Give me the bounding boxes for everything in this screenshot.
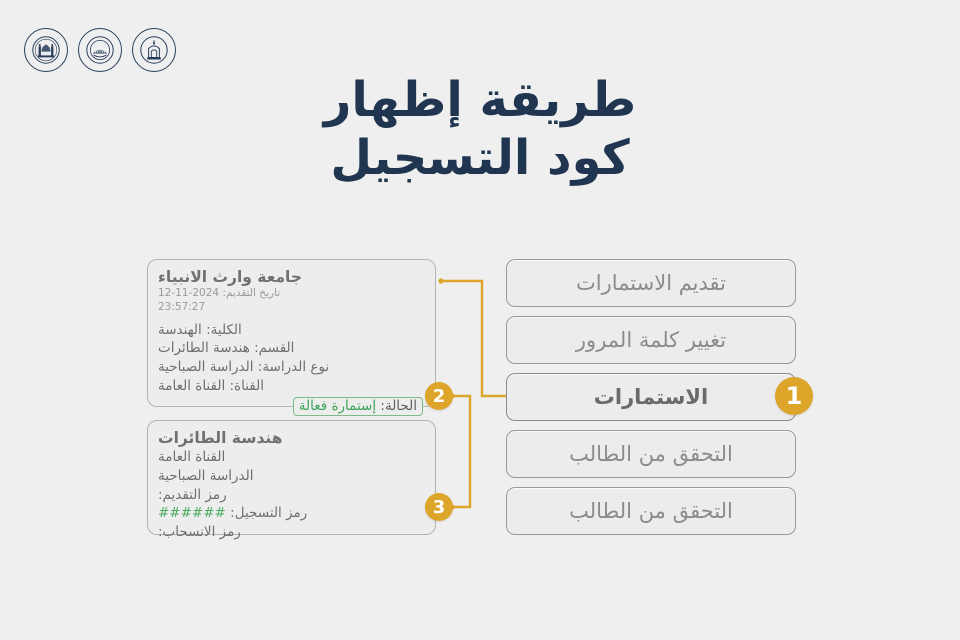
step-badge-1: 1 (775, 377, 813, 415)
registration-code-value: ###### (158, 505, 226, 521)
menu-item-label: تغيير كلمة المرور (576, 328, 726, 352)
menu-item-label: التحقق من الطالب (569, 499, 733, 523)
step-badge-3: 3 (425, 493, 453, 521)
ministry-seal-center-icon (78, 28, 122, 72)
menu-item-label: التحقق من الطالب (569, 442, 733, 466)
status-value: إستمارة فعالة (299, 398, 376, 414)
codes-channel: القناة العامة (158, 448, 423, 467)
page-title: طريقة إظهار كود التسجيل (0, 72, 960, 187)
menu-item-verify-student-2[interactable]: التحقق من الطالب (506, 487, 796, 535)
menu-item-forms[interactable]: الاستمارات (506, 373, 796, 421)
codes-study-type: الدراسة الصباحية (158, 467, 423, 486)
menu-item-label: الاستمارات (594, 385, 708, 409)
submission-details-card: جامعة وارث الانبياء تاريخ التقديم: 2024-… (147, 259, 436, 407)
logo-strip (24, 28, 176, 72)
submission-time: 23:57:27 (158, 301, 423, 314)
slide-canvas: طريقة إظهار كود التسجيل تقديم الاستمارات… (0, 0, 960, 640)
menu-item-change-password[interactable]: تغيير كلمة المرور (506, 316, 796, 364)
menu-item-submit-forms[interactable]: تقديم الاستمارات (506, 259, 796, 307)
withdrawal-code-row: رمز الانسحاب: (158, 523, 423, 542)
department-row: القسم: هندسة الطائرات (158, 339, 423, 358)
codes-card: هندسة الطائرات القناة العامة الدراسة الص… (147, 420, 436, 535)
page-title-line-1: طريقة إظهار (324, 72, 636, 128)
menu-item-label: تقديم الاستمارات (576, 271, 726, 295)
status-badge: الحالة: إستمارة فعالة (293, 397, 423, 416)
submission-code-row: رمز التقديم: (158, 486, 423, 505)
registration-code-label: رمز التسجيل: (230, 505, 307, 521)
status-label: الحالة: (380, 398, 417, 414)
nav-menu: تقديم الاستمارات تغيير كلمة المرور الاست… (506, 259, 796, 544)
channel-row: القناة: القناة العامة (158, 377, 423, 396)
submission-date: تاريخ التقديم: 2024-11-12 (158, 287, 423, 300)
college-row: الكلية: الهندسة (158, 321, 423, 340)
codes-department: هندسة الطائرات (158, 429, 423, 448)
shrine-seal-right-icon (24, 28, 68, 72)
page-title-line-2: كود التسجيل (0, 130, 960, 188)
university-name: جامعة وارث الانبياء (158, 268, 423, 287)
menu-item-verify-student-1[interactable]: التحقق من الطالب (506, 430, 796, 478)
study-type-row: نوع الدراسة: الدراسة الصباحية (158, 358, 423, 377)
registration-code-row: رمز التسجيل: ###### (158, 504, 423, 523)
step-badge-2: 2 (425, 382, 453, 410)
university-seal-left-icon (132, 28, 176, 72)
